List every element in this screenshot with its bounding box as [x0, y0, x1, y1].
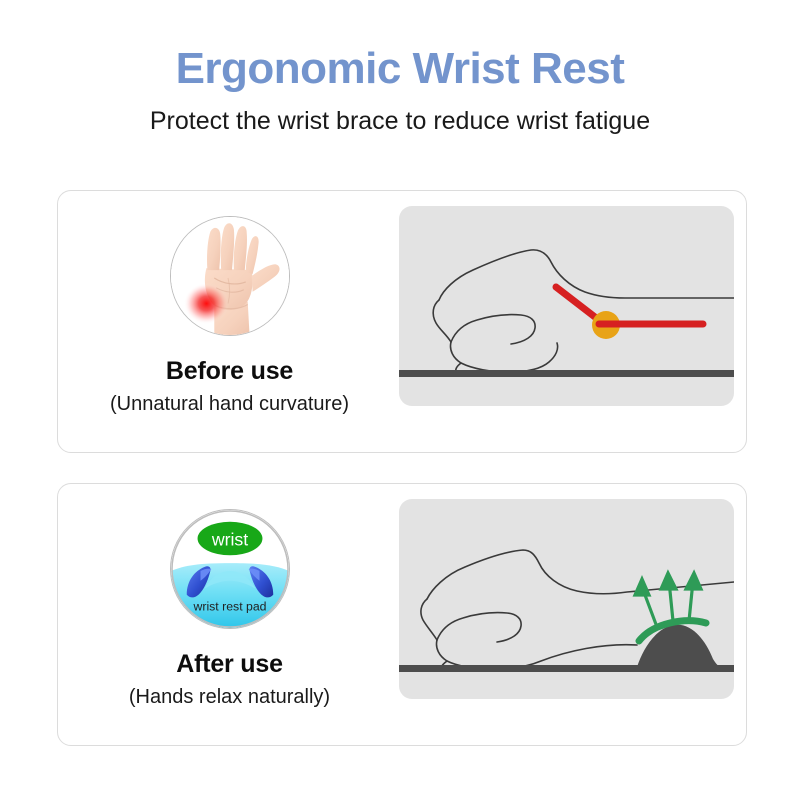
wrist-rest-pad-diagram: wrist wrist rest pad: [170, 509, 290, 629]
hand-palm-illustration: [171, 217, 289, 335]
header: Ergonomic Wrist Rest Protect the wrist b…: [0, 0, 800, 136]
desk-surface-line: [399, 665, 734, 672]
card-after-left-column: wrist wrist rest pad After use (Hands re…: [58, 484, 401, 745]
card-before-caption: Before use: [166, 357, 293, 386]
wrist-rest-pad-label: wrist rest pad: [192, 599, 266, 613]
hand-palm-photo: [170, 216, 290, 336]
card-after-subcaption: (Hands relax naturally): [129, 686, 330, 709]
wrist-badge-label: wrist: [210, 529, 247, 549]
page-title: Ergonomic Wrist Rest: [0, 44, 800, 95]
illustration-panel-before: [399, 206, 734, 406]
red-bent-angle-line: [556, 287, 703, 324]
illustration-panel-after: [399, 499, 734, 699]
card-before-left-column: Before use (Unnatural hand curvature): [58, 191, 401, 452]
card-after-caption: After use: [176, 650, 283, 679]
page-subtitle: Protect the wrist brace to reduce wrist …: [0, 107, 800, 136]
card-before-use: Before use (Unnatural hand curvature): [57, 190, 747, 453]
desk-surface-line: [399, 370, 734, 377]
card-after-use: wrist wrist rest pad After use (Hands re…: [57, 483, 747, 746]
infographic-page: Ergonomic Wrist Rest Protect the wrist b…: [0, 0, 800, 800]
card-before-subcaption: (Unnatural hand curvature): [110, 393, 349, 416]
red-pain-glow: [183, 283, 228, 324]
